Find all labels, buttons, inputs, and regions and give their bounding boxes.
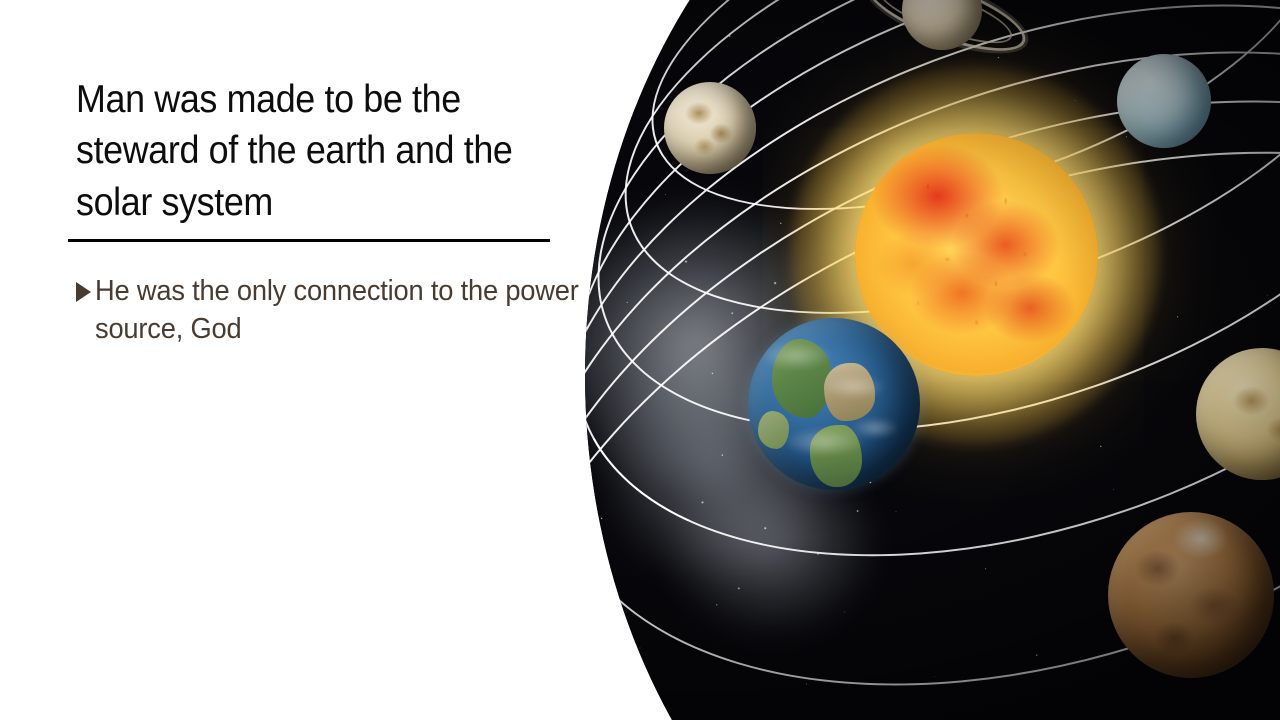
title-divider: [68, 239, 550, 242]
planet-mercury: [664, 82, 756, 174]
solar-system-canvas: [585, 0, 1280, 720]
triangle-right-bullet-icon: [76, 282, 91, 302]
slide-text-column: Man was made to be the steward of the ea…: [0, 0, 620, 720]
list-item: He was the only connection to the power …: [76, 272, 616, 349]
solar-system-illustration: [585, 0, 1280, 720]
page-title: Man was made to be the steward of the ea…: [76, 74, 554, 228]
planet-mars: [1108, 512, 1274, 678]
bullet-list: He was the only connection to the power …: [76, 272, 616, 349]
presentation-slide: Man was made to be the steward of the ea…: [0, 0, 1280, 720]
bullet-text: He was the only connection to the power …: [95, 272, 585, 349]
